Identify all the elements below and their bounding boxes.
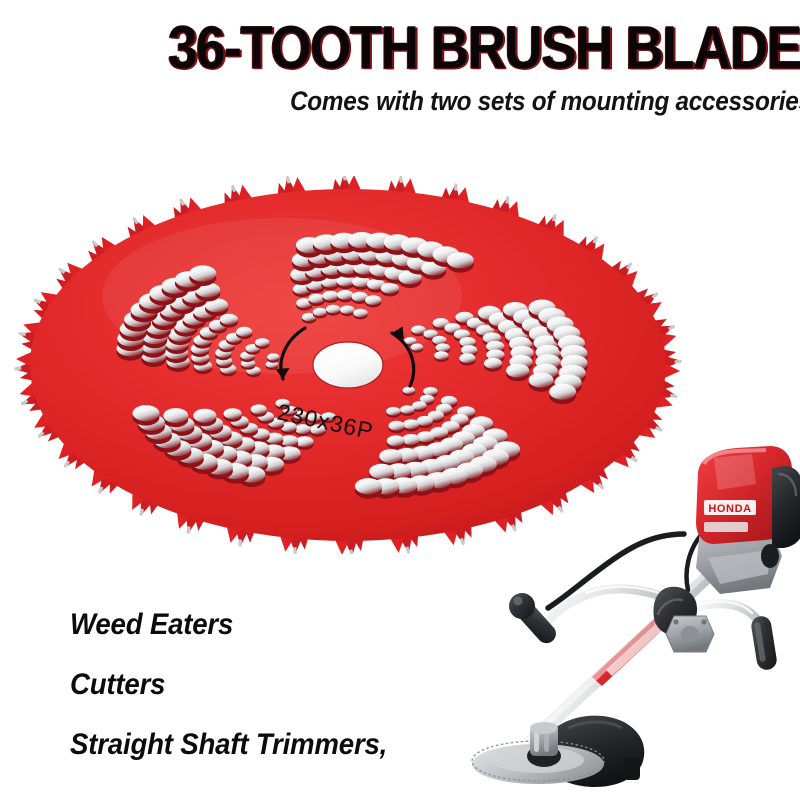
blade-hole <box>251 404 267 416</box>
shaft-decal-text-stripe <box>606 622 664 676</box>
feature-item: Cutters <box>70 668 456 702</box>
blade-hole <box>193 409 216 427</box>
blade-hole <box>189 265 216 286</box>
blade-hole <box>365 295 381 307</box>
blade-hole <box>403 419 419 431</box>
blade-hole <box>400 405 414 416</box>
blade-hole <box>529 373 554 392</box>
blade-hole <box>447 252 474 273</box>
blade-hole <box>411 325 425 336</box>
blade-hole <box>322 291 338 303</box>
blade-hole <box>313 308 327 319</box>
trimmer-head <box>472 716 644 787</box>
product-banner: 36-TOOTH BRUSH BLADE Comes with two sets… <box>0 0 800 800</box>
blade-hole <box>381 283 399 297</box>
blade-hole <box>386 407 400 418</box>
feature-item: Weed Eaters <box>70 608 456 642</box>
blade-hole <box>309 294 325 306</box>
blade-hole <box>411 343 423 352</box>
blade-hole <box>549 384 576 405</box>
blade-hole <box>224 408 242 422</box>
blade-hole <box>355 478 382 499</box>
feature-item: Straight Shaft Trimmers, <box>70 728 456 762</box>
blade-hole <box>133 405 160 426</box>
blade-hole <box>163 408 188 427</box>
blade-hole <box>506 364 529 382</box>
blade-hole <box>389 421 405 433</box>
headline-block: 36-TOOTH BRUSH BLADE Comes with two sets… <box>0 0 800 140</box>
blade-hole <box>236 327 252 339</box>
blade-hole <box>267 353 279 362</box>
page-subtitle: Comes with two sets of mounting accessor… <box>290 88 800 115</box>
blade-hole <box>459 353 475 365</box>
blade-hole <box>403 387 415 396</box>
handle-grip-right-throttle[interactable] <box>750 615 778 671</box>
engine-air-filter-cover <box>772 466 800 548</box>
blade-hole <box>484 358 502 372</box>
blade-hole <box>387 435 405 449</box>
blade-hole <box>255 338 269 349</box>
gearbox-hub <box>527 722 561 767</box>
brush-cutter-machine-image: HONDA <box>452 438 800 800</box>
blade-hole <box>337 290 353 302</box>
blade-hole <box>340 305 354 316</box>
handlebar-clamp <box>666 616 714 652</box>
page-title: 36-TOOTH BRUSH BLADE <box>168 18 800 78</box>
blade-center-bore <box>313 342 383 388</box>
engine-assembly: HONDA <box>696 446 800 594</box>
blade-hole <box>326 305 340 316</box>
engine-brand-label: HONDA <box>708 503 751 515</box>
blade-hole <box>434 351 448 362</box>
blade-hole <box>220 314 238 328</box>
trimmer-svg: HONDA <box>452 438 800 800</box>
blade-hole <box>353 309 367 320</box>
feature-list: Weed Eaters Cutters Straight Shaft Trimm… <box>70 608 490 788</box>
